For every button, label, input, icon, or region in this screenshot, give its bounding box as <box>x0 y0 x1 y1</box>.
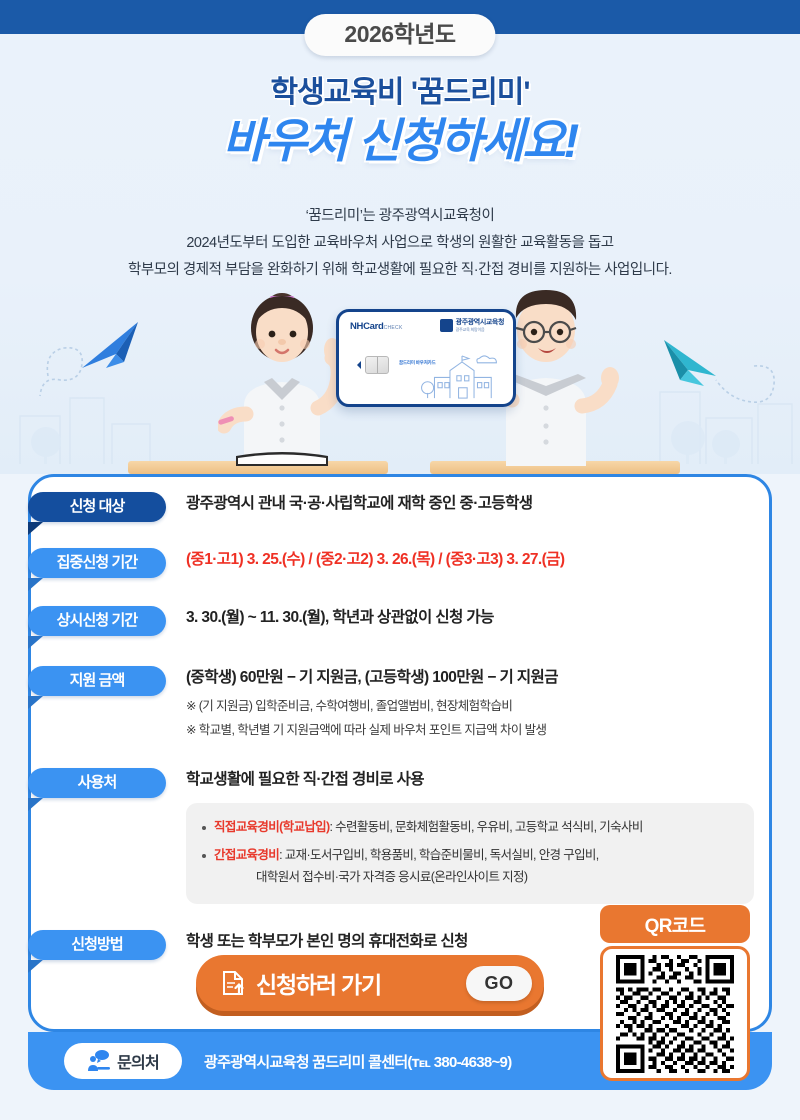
usage-detail-box: 직접교육경비(학교납입): 수련활동비, 문화체험활동비, 우유비, 고등학교 … <box>186 803 754 904</box>
year-badge-label: 2026학년도 <box>344 23 455 46</box>
row-label-badge: 지원 금액 <box>28 666 166 696</box>
contact-text: 광주광역시교육청 꿈드리미 콜센터(℡ 380-4638~9) <box>204 1051 512 1072</box>
voucher-card-graphic: NHCardCHECK 광주광역시교육청 광주교육 희망이음 꿈드리미 바우처카… <box>336 309 516 407</box>
document-upload-icon <box>222 970 244 996</box>
row-label-wrap: 집중신청 기간 <box>28 548 166 578</box>
contact-chip: 문의처 <box>64 1043 182 1079</box>
nhcard-logo: NHCardCHECK <box>350 321 403 332</box>
poster-root: 2026학년도 학생교육비 '꿈드리미' 바우처 신청하세요! ‘꿈드리미’는 … <box>0 0 800 1120</box>
table-row: 사용처 학교생활에 필요한 직·간접 경비로 사용 직접교육경비(학교납입): … <box>28 768 772 904</box>
description-block: ‘꿈드리미’는 광주광역시교육청이 2024년도부터 도입한 교육바우처 사업으… <box>0 203 800 283</box>
row-content: (중1·고1) 3. 25.(수) / (중2·고2) 3. 26.(목) / … <box>166 548 772 571</box>
table-row: 신청 대상 광주광역시 관내 국·공·사립학교에 재학 중인 중·고등학생 <box>28 492 772 522</box>
row-label-wrap: 사용처 <box>28 768 166 798</box>
qr-code-box[interactable] <box>600 946 750 1081</box>
bullet-text: : 교재·도서구입비, 학용품비, 학습준비물비, 독서실비, 안경 구입비, <box>279 848 599 862</box>
office-name: 광주광역시교육청 <box>456 319 504 327</box>
list-item: 직접교육경비(학교납입): 수련활동비, 문화체험활동비, 우유비, 고등학교 … <box>200 817 736 839</box>
row-label-wrap: 상시신청 기간 <box>28 606 166 636</box>
row-label-tail <box>28 636 43 649</box>
card-top-area: NHCardCHECK 광주광역시교육청 광주교육 희망이음 <box>339 312 513 342</box>
consultation-icon <box>87 1050 111 1072</box>
row-label-wrap: 신청방법 <box>28 930 166 960</box>
apply-button[interactable]: 신청하러 가기 GO <box>196 955 544 1011</box>
table-row: 상시신청 기간 3. 30.(월) ~ 11. 30.(월), 학년과 상관없이… <box>28 606 772 636</box>
row-note-line: ※ (기 지원금) 입학준비금, 수학여행비, 졸업앨범비, 현장체험학습비 <box>186 696 772 718</box>
row-label-tail <box>28 578 43 591</box>
row-title-text: 학교생활에 필요한 직·간접 경비로 사용 <box>186 768 772 791</box>
row-title-text: (중학생) 60만원 − 기 지원금, (고등학생) 100만원 − 기 지원금 <box>186 666 772 689</box>
table-row: 지원 금액 (중학생) 60만원 − 기 지원금, (고등학생) 100만원 −… <box>28 666 772 742</box>
title-line-1: 학생교육비 '꿈드리미' <box>0 76 800 109</box>
row-content: 학교생활에 필요한 직·간접 경비로 사용 직접교육경비(학교납입): 수련활동… <box>166 768 772 904</box>
bullet-continuation: 대학원서 접수비·국가 자격증 응시료(온라인사이트 지정) <box>214 867 736 889</box>
row-label-badge: 집중신청 기간 <box>28 548 166 578</box>
row-content: (중학생) 60만원 − 기 지원금, (고등학생) 100만원 − 기 지원금… <box>166 666 772 742</box>
list-item: 간접교육경비: 교재·도서구입비, 학용품비, 학습준비물비, 독서실비, 안경… <box>200 845 736 889</box>
table-row: 집중신청 기간 (중1·고1) 3. 25.(수) / (중2·고2) 3. 2… <box>28 548 772 578</box>
row-label-wrap: 지원 금액 <box>28 666 166 696</box>
row-title-text: 3. 30.(월) ~ 11. 30.(월), 학년과 상관없이 신청 가능 <box>186 606 772 629</box>
row-label-badge: 사용처 <box>28 768 166 798</box>
apply-button-label: 신청하러 가기 <box>256 966 466 1000</box>
illustration-scene: NHCardCHECK 광주광역시교육청 광주교육 희망이음 꿈드리미 바우처카… <box>0 276 800 474</box>
education-office-logo: 광주광역시교육청 광주교육 희망이음 <box>440 319 504 333</box>
row-label-tail <box>28 798 43 811</box>
office-subtitle: 광주교육 희망이음 <box>456 327 504 333</box>
row-label-badge: 신청방법 <box>28 930 166 960</box>
row-label-tail <box>28 696 43 709</box>
qr-heading: QR코드 <box>600 905 750 943</box>
bullet-text: : 수련활동비, 문화체험활동비, 우유비, 고등학교 석식비, 기숙사비 <box>330 820 643 834</box>
row-content: 광주광역시 관내 국·공·사립학교에 재학 중인 중·고등학생 <box>166 492 772 515</box>
title-line-2: 바우처 신청하세요! <box>0 116 800 167</box>
qr-code-icon <box>616 955 734 1073</box>
row-note-line: ※ 학교별, 학년별 기 지원금액에 따라 실제 바우처 포인트 지급액 차이 … <box>186 720 772 742</box>
description-line-1: ‘꿈드리미’는 광주광역시교육청이 <box>0 203 800 230</box>
description-line-2: 2024년도부터 도입한 교육바우처 사업으로 학생의 원활한 교육활동을 돕고 <box>0 230 800 257</box>
bullet-bold-label: 직접교육경비(학교납입) <box>214 820 330 834</box>
row-content: 3. 30.(월) ~ 11. 30.(월), 학년과 상관없이 신청 가능 <box>166 606 772 629</box>
go-chip[interactable]: GO <box>466 966 532 1001</box>
info-rows: 신청 대상 광주광역시 관내 국·공·사립학교에 재학 중인 중·고등학생 집중… <box>28 474 772 960</box>
year-badge: 2026학년도 <box>304 14 495 56</box>
card-direction-arrow-icon <box>353 361 361 369</box>
card-chip-icon <box>365 356 389 374</box>
description-line-3: 학부모의 경제적 부담을 완화하기 위해 학교생활에 필요한 직·간접 경비를 … <box>0 257 800 284</box>
office-emblem-icon <box>440 319 453 332</box>
title-block: 학생교육비 '꿈드리미' 바우처 신청하세요! <box>0 76 800 167</box>
row-label-tail <box>28 522 43 535</box>
row-label-wrap: 신청 대상 <box>28 492 166 522</box>
row-label-badge: 신청 대상 <box>28 492 166 522</box>
contact-chip-label: 문의처 <box>117 1049 159 1073</box>
row-title-text: 광주광역시 관내 국·공·사립학교에 재학 중인 중·고등학생 <box>186 492 772 515</box>
row-title-text: (중1·고1) 3. 25.(수) / (중2·고2) 3. 26.(목) / … <box>186 548 772 571</box>
school-building-illustration <box>419 348 505 400</box>
bullet-bold-label: 간접교육경비 <box>214 848 279 862</box>
row-label-badge: 상시신청 기간 <box>28 606 166 636</box>
